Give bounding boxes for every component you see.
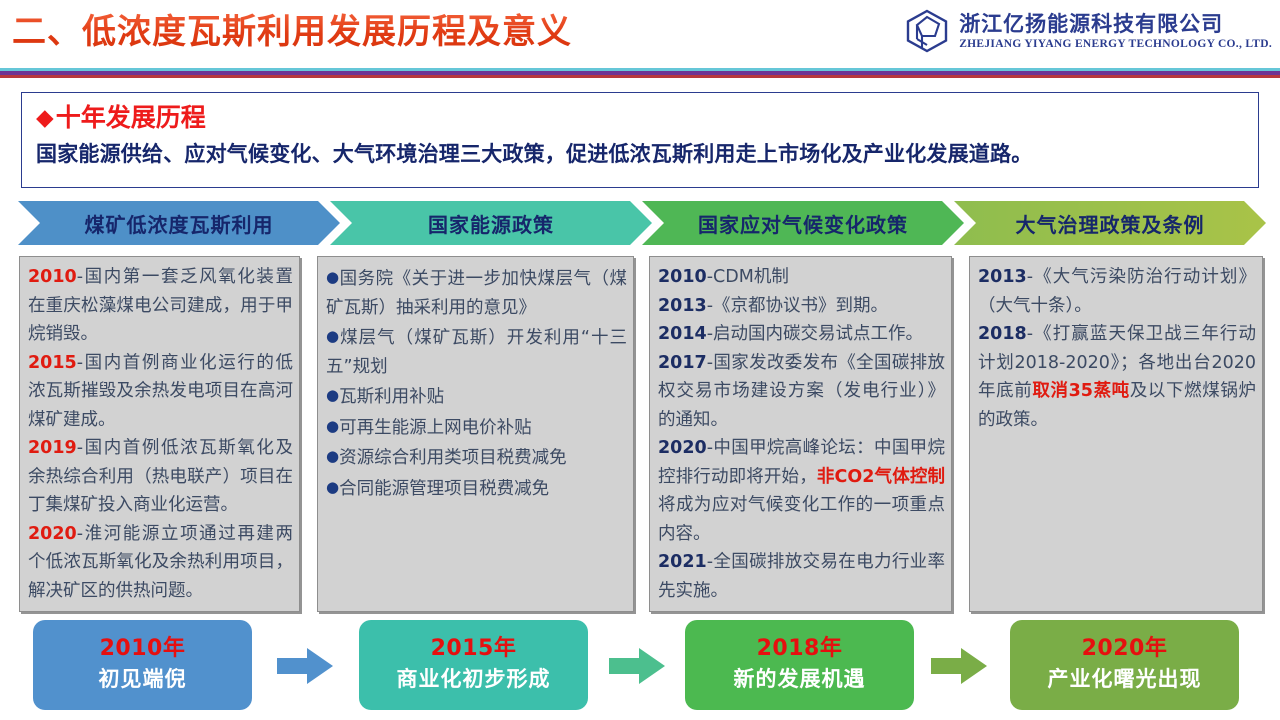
chevron-label-1: 国家能源政策: [428, 209, 554, 238]
header-divider: [0, 68, 1280, 78]
entry-separator: -: [707, 267, 713, 287]
chevron-banner-2[interactable]: 国家应对气候变化政策: [642, 201, 964, 245]
chevron-banner-0[interactable]: 煤矿低浓度瓦斯利用: [18, 201, 340, 245]
statement-heading: ◆ 十年发展历程: [36, 101, 1246, 135]
entry-separator: -: [77, 353, 83, 373]
milestone-box-3[interactable]: 2020年 产业化曙光出现: [1010, 620, 1239, 710]
content-columns: 2010-国内第一套乏风氧化装置在重庆松藻煤电公司建成，用于甲烷销毁。2015-…: [19, 256, 1263, 614]
slide-header: 二、低浓度瓦斯利用发展历程及意义 浙江亿扬能源科技有限公司 ZHEJIANG Y…: [0, 0, 1280, 70]
milestone-row: 2010年 初见端倪 2015年 商业化初步形成 2018年 新的发展机遇 20…: [0, 620, 1280, 718]
list-item: 可再生能源上网电价补贴: [339, 418, 532, 438]
milestone-year-2: 2018年: [757, 634, 843, 664]
list-item: 合同能源管理项目税费减免: [339, 479, 549, 499]
entry-year: 2019: [28, 438, 77, 458]
content-column-3-text: 2013-《大气污染防治行动计划》（大气十条）。2018-《打赢蓝天保卫战三年行…: [978, 263, 1256, 434]
statement-heading-text: 十年发展历程: [56, 101, 206, 135]
entry-separator: -: [707, 353, 713, 373]
company-name-cn: 浙江亿扬能源科技有限公司: [959, 11, 1272, 37]
entry-year: 2021: [658, 552, 707, 572]
content-column-0-text: 2010-国内第一套乏风氧化装置在重庆松藻煤电公司建成，用于甲烷销毁。2015-…: [28, 263, 293, 605]
arrow-right-icon-2: [931, 646, 987, 686]
content-column-3: 2013-《大气污染防治行动计划》（大气十条）。2018-《打赢蓝天保卫战三年行…: [969, 256, 1263, 612]
chevron-banner-1[interactable]: 国家能源政策: [330, 201, 652, 245]
arrow-right-icon-0: [277, 646, 333, 686]
entry-year: 2015: [28, 353, 77, 373]
milestone-year-3: 2020年: [1082, 634, 1168, 664]
list-item: 国务院《关于进一步加快煤层气（煤矿瓦斯）抽采利用的意见》: [326, 269, 627, 318]
entry-separator: -: [707, 438, 713, 458]
entry-year: 2020: [28, 524, 77, 544]
list-bullet-icon: ●: [326, 327, 340, 345]
list-item: 瓦斯利用补贴: [339, 387, 444, 407]
content-column-1: ●国务院《关于进一步加快煤层气（煤矿瓦斯）抽采利用的意见》●煤层气（煤矿瓦斯）开…: [317, 256, 634, 612]
entry-separator: -: [707, 324, 713, 344]
entry-year: 2010: [658, 267, 707, 287]
chevron-label-0: 煤矿低浓度瓦斯利用: [85, 209, 274, 238]
diamond-bullet-icon: ◆: [36, 107, 54, 130]
page-title: 二、低浓度瓦斯利用发展历程及意义: [12, 10, 572, 54]
entry-year: 2013: [978, 267, 1027, 287]
entry-separator: -: [1027, 267, 1033, 287]
milestone-label-0: 初见端倪: [99, 664, 187, 694]
entry-year: 2014: [658, 324, 707, 344]
entry-year: 2010: [28, 267, 77, 287]
statement-body-text: 国家能源供给、应对气候变化、大气环境治理三大政策，促进低浓瓦斯利用走上市场化及产…: [36, 139, 1246, 169]
milestone-label-3: 产业化曙光出现: [1048, 664, 1202, 694]
entry-year: 2013: [658, 296, 707, 316]
divider-band-red: [0, 75, 1280, 78]
content-column-1-text: ●国务院《关于进一步加快煤层气（煤矿瓦斯）抽采利用的意见》●煤层气（煤矿瓦斯）开…: [326, 263, 627, 503]
arrow-right-icon-1: [609, 646, 665, 686]
list-item: 煤层气（煤矿瓦斯）开发利用“十三五”规划: [326, 328, 627, 377]
milestone-year-0: 2010年: [100, 634, 186, 664]
logo-text-block: 浙江亿扬能源科技有限公司 ZHEJIANG YIYANG ENERGY TECH…: [959, 11, 1272, 52]
milestone-label-2: 新的发展机遇: [734, 664, 866, 694]
entry-separator: -: [707, 552, 713, 572]
milestone-box-0[interactable]: 2010年 初见端倪: [33, 620, 252, 710]
entry-year: 2017: [658, 353, 707, 373]
company-name-en: ZHEJIANG YIYANG ENERGY TECHNOLOGY CO., L…: [959, 37, 1272, 52]
hexagon-cube-logo-icon: [905, 8, 949, 54]
entry-separator: -: [77, 524, 83, 544]
chevron-label-3: 大气治理政策及条例: [1016, 209, 1205, 238]
chevron-banner-3[interactable]: 大气治理政策及条例: [954, 201, 1266, 245]
milestone-label-1: 商业化初步形成: [397, 664, 551, 694]
milestone-year-1: 2015年: [431, 634, 517, 664]
chevron-banner-row: 煤矿低浓度瓦斯利用 国家能源政策 国家应对气候变化政策 大气治理政策及条例: [18, 201, 1266, 245]
list-bullet-icon: ●: [326, 417, 339, 435]
entry-year: 2020: [658, 438, 707, 458]
chevron-label-2: 国家应对气候变化政策: [698, 209, 908, 238]
list-bullet-icon: ●: [326, 268, 340, 286]
list-bullet-icon: ●: [326, 447, 339, 465]
milestone-box-1[interactable]: 2015年 商业化初步形成: [359, 620, 588, 710]
list-bullet-icon: ●: [326, 386, 339, 404]
list-item: 资源综合利用类项目税费减免: [339, 448, 567, 468]
entry-separator: -: [707, 296, 713, 316]
content-column-0: 2010-国内第一套乏风氧化装置在重庆松藻煤电公司建成，用于甲烷销毁。2015-…: [19, 256, 300, 612]
entry-separator: -: [77, 267, 83, 287]
content-column-2-text: 2010-CDM机制2013-《京都协议书》到期。2014-启动国内碳交易试点工…: [658, 263, 945, 605]
company-logo: 浙江亿扬能源科技有限公司 ZHEJIANG YIYANG ENERGY TECH…: [905, 8, 1272, 54]
milestone-box-2[interactable]: 2018年 新的发展机遇: [685, 620, 914, 710]
list-bullet-icon: ●: [326, 478, 339, 496]
entry-highlight: 非CO2气体控制: [817, 467, 945, 487]
entry-separator: -: [1027, 324, 1033, 344]
entry-separator: -: [77, 438, 83, 458]
slide-root: 二、低浓度瓦斯利用发展历程及意义 浙江亿扬能源科技有限公司 ZHEJIANG Y…: [0, 0, 1280, 720]
entry-highlight: 取消35蒸吨: [1032, 381, 1129, 401]
content-column-2: 2010-CDM机制2013-《京都协议书》到期。2014-启动国内碳交易试点工…: [649, 256, 952, 612]
statement-box: ◆ 十年发展历程 国家能源供给、应对气候变化、大气环境治理三大政策，促进低浓瓦斯…: [21, 92, 1259, 188]
entry-year: 2018: [978, 324, 1027, 344]
